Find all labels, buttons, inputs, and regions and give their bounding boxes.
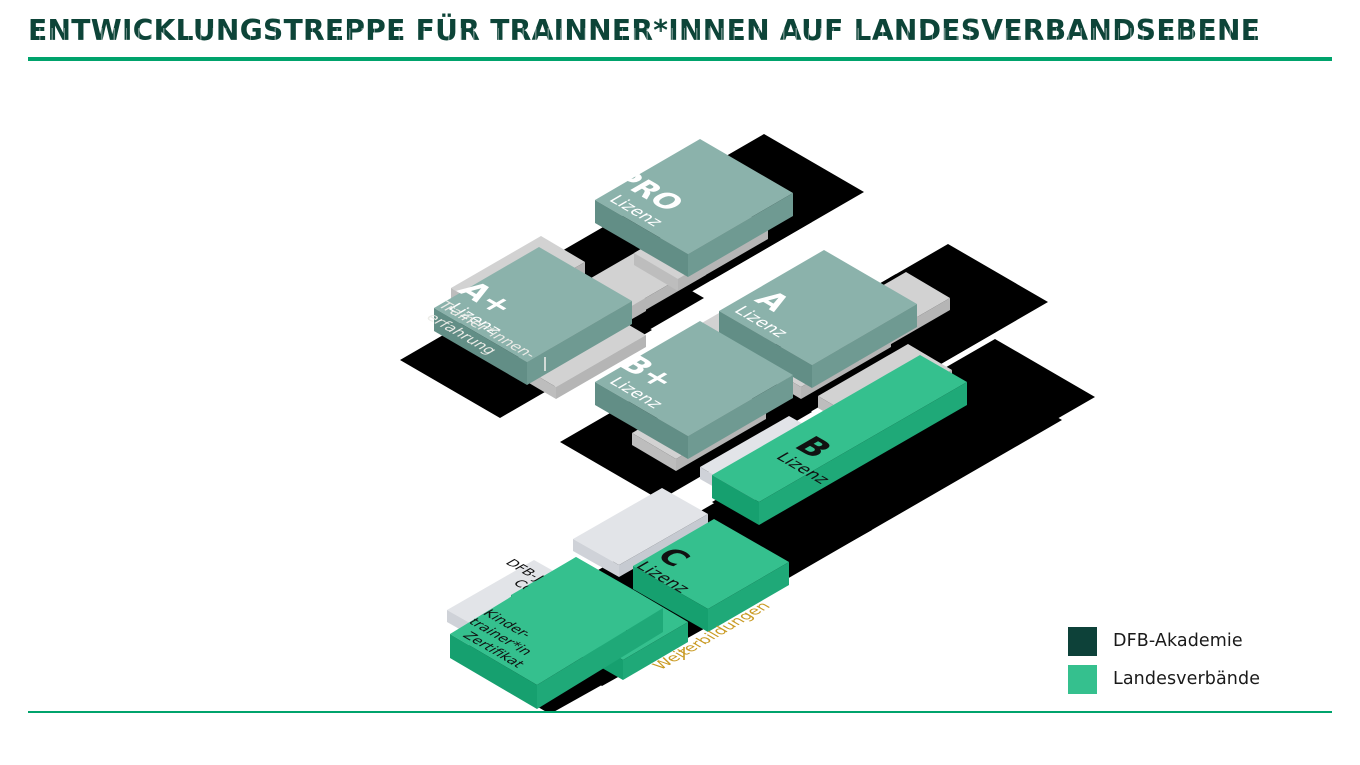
legend-swatch-landesverbaende xyxy=(1068,665,1097,694)
isometric-stair-diagram: PRO Lizenz A+ Lizenz A Lizenz B+ Lizenz xyxy=(0,62,1360,712)
footer-rule xyxy=(28,711,1332,713)
title-underline-rule xyxy=(28,57,1332,61)
legend: DFB-Akademie Landesverbände xyxy=(1068,622,1260,698)
page-title: ENTWICKLUNGSTREPPE FÜR TRAINNER*INNEN AU… xyxy=(28,14,1312,48)
legend-item-landesverbaende: Landesverbände xyxy=(1068,660,1260,698)
legend-swatch-dfb-akademie xyxy=(1068,627,1097,656)
legend-label-dfb-akademie: DFB-Akademie xyxy=(1113,631,1243,651)
title-block: ENTWICKLUNGSTREPPE FÜR TRAINNER*INNEN AU… xyxy=(28,14,1332,48)
legend-label-landesverbaende: Landesverbände xyxy=(1113,669,1260,689)
legend-item-dfb-akademie: DFB-Akademie xyxy=(1068,622,1260,660)
